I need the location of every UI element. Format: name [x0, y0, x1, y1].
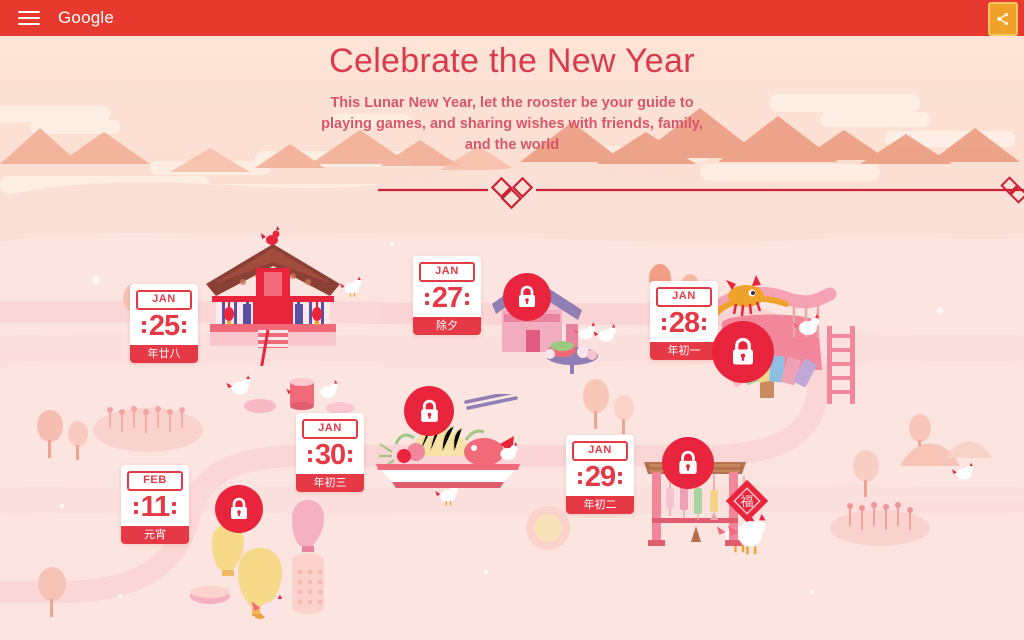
dot-group-right — [172, 502, 176, 514]
date-card-jan-28[interactable]: JAN 28 年初一 — [650, 281, 718, 360]
dot-group-left — [662, 318, 666, 330]
date-card-feb-11[interactable]: FEB 11 元宵 — [121, 465, 189, 544]
field-right — [830, 502, 930, 546]
card-month: FEB — [127, 471, 183, 491]
card-day: 11 — [141, 494, 170, 522]
chinese-knot-ornament-right — [1002, 178, 1024, 203]
temple-props — [240, 366, 360, 416]
card-day-row: 29 — [572, 464, 628, 492]
date-card-jan-29[interactable]: JAN 29 年初二 — [566, 435, 634, 514]
share-button[interactable] — [988, 2, 1018, 36]
card-day-row: 28 — [656, 310, 712, 338]
card-day-row: 25 — [136, 313, 192, 341]
hill — [946, 442, 992, 459]
chinese-knot-ornament — [492, 178, 531, 207]
lantern — [292, 500, 324, 552]
lock-icon — [676, 450, 700, 476]
page-title: Celebrate the New Year — [0, 42, 1024, 81]
card-day: 25 — [149, 313, 179, 341]
lock-badge-feb-11[interactable] — [215, 485, 263, 533]
card-day: 27 — [432, 285, 462, 313]
subtitle-line: This Lunar New Year, let the rooster be … — [0, 93, 1024, 114]
page-subtitle: This Lunar New Year, let the rooster be … — [0, 93, 1024, 156]
tree — [37, 410, 63, 458]
sky-lantern-illustration[interactable] — [188, 486, 338, 626]
card-lunar-label: 元宵 — [121, 526, 189, 544]
knot-divider — [0, 166, 1024, 216]
card-day-row: 11 — [127, 494, 183, 522]
google-logo: Google — [58, 8, 114, 28]
card-month: JAN — [136, 290, 192, 310]
card-month: JAN — [656, 287, 712, 307]
card-lunar-label: 年初二 — [566, 496, 634, 514]
lock-icon — [228, 497, 250, 521]
dot-group-right — [182, 321, 186, 333]
temple-illustration[interactable] — [198, 226, 348, 366]
dot-group-left — [425, 293, 429, 305]
date-card-jan-27[interactable]: JAN 27 除夕 — [413, 256, 481, 335]
dot-group-right — [348, 450, 352, 462]
subtitle-line: playing games, and sharing wishes with f… — [0, 114, 1024, 135]
dot-group-left — [142, 321, 146, 333]
card-month: JAN — [302, 419, 358, 439]
dot-group-left — [578, 472, 582, 484]
dot-group-right — [702, 318, 706, 330]
date-card-jan-30[interactable]: JAN 30 年初三 — [296, 413, 364, 492]
lock-icon — [418, 399, 441, 424]
card-lunar-label: 年廿八 — [130, 345, 198, 363]
lock-badge-jan-30[interactable] — [404, 386, 454, 436]
subtitle-line: and the world — [0, 135, 1024, 156]
hamburger-menu-icon[interactable] — [16, 7, 42, 29]
dot-group-right — [618, 472, 622, 484]
field-left — [93, 406, 203, 452]
tree — [68, 421, 88, 460]
tree — [38, 567, 66, 617]
date-card-jan-25[interactable]: JAN 25 年廿八 — [130, 284, 198, 363]
dot-group-left — [308, 450, 312, 462]
tree — [583, 379, 609, 429]
top-app-bar: Google — [0, 0, 1024, 36]
ladder — [827, 326, 855, 404]
card-day: 30 — [315, 442, 345, 470]
header-text-block: Celebrate the New Year This Lunar New Ye… — [0, 36, 1024, 156]
lock-badge-jan-29[interactable] — [662, 437, 714, 489]
dot-group-right — [465, 293, 469, 305]
tree — [614, 395, 634, 434]
share-icon — [995, 11, 1011, 27]
tree — [853, 450, 879, 497]
card-lunar-label: 年初三 — [296, 474, 364, 492]
card-day-row: 30 — [302, 442, 358, 470]
svg-text:福: 福 — [740, 495, 753, 510]
card-lunar-label: 除夕 — [413, 317, 481, 335]
card-month: JAN — [419, 262, 475, 282]
card-month: JAN — [572, 441, 628, 461]
lock-icon — [516, 285, 538, 309]
lock-badge-jan-28[interactable] — [712, 321, 774, 383]
card-day-row: 27 — [419, 285, 475, 313]
dot-group-left — [134, 502, 138, 514]
card-day: 28 — [669, 310, 699, 338]
card-lunar-label: 年初一 — [650, 342, 718, 360]
lock-icon — [729, 337, 757, 367]
doodle-scene: 福 — [0, 36, 1024, 640]
lock-badge-jan-27[interactable] — [503, 273, 551, 321]
card-day: 29 — [585, 464, 615, 492]
doodle-page: Google — [0, 0, 1024, 640]
